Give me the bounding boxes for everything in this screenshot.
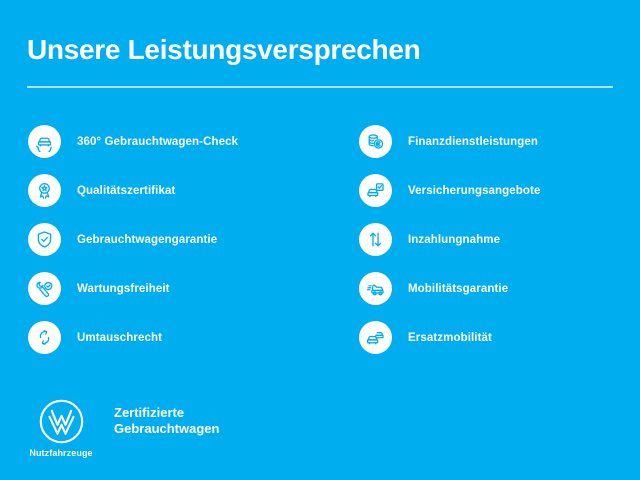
footer: Nutzfahrzeuge Zertifizierte Gebrauchtwag… (28, 398, 219, 458)
feature-label: Ersatzmobilität (408, 332, 492, 344)
features-column-left: 360° Gebrauchtwagen-Check Qualitätszerti… (28, 125, 328, 370)
brand-block: Nutzfahrzeuge (28, 398, 94, 458)
car-checklist-icon (359, 174, 392, 207)
feature-label: 360° Gebrauchtwagen-Check (77, 136, 238, 148)
promo-page: Unsere Leistungsversprechen 360° Gebrauc… (0, 0, 640, 480)
two-cars-icon (359, 321, 392, 354)
feature-label: Versicherungsangebote (408, 185, 540, 197)
feature-label: Finanzdienstleistungen (408, 136, 538, 148)
feature-item[interactable]: Inzahlungnahme (359, 223, 629, 256)
footer-tagline-line1: Zertifizierte (114, 405, 219, 421)
feature-item[interactable]: Mobilitätsgarantie (359, 272, 629, 305)
feature-label: Qualitätszertifikat (77, 185, 175, 197)
up-down-arrows-icon (359, 223, 392, 256)
feature-label: Wartungsfreiheit (77, 283, 170, 295)
brand-subtitle: Nutzfahrzeuge (29, 448, 92, 458)
feature-item[interactable]: Wartungsfreiheit (28, 272, 328, 305)
feature-label: Gebrauchtwagengarantie (77, 234, 217, 246)
feature-item[interactable]: 360° Gebrauchtwagen-Check (28, 125, 328, 158)
award-rosette-icon (28, 174, 61, 207)
coins-euro-icon (359, 125, 392, 158)
features-column-right: Finanzdienstleistungen Versicherungsange… (359, 125, 629, 370)
feature-item[interactable]: Finanzdienstleistungen (359, 125, 629, 158)
feature-label: Inzahlungnahme (408, 234, 500, 246)
feature-item[interactable]: Umtauschrecht (28, 321, 328, 354)
feature-label: Mobilitätsgarantie (408, 283, 508, 295)
header-divider (27, 86, 613, 88)
footer-tagline-line2: Gebrauchtwagen (114, 421, 219, 437)
moving-car-icon (359, 272, 392, 305)
shield-check-icon (28, 223, 61, 256)
footer-tagline: Zertifizierte Gebrauchtwagen (114, 405, 219, 437)
exchange-arrows-icon (28, 321, 61, 354)
feature-label: Umtauschrecht (77, 332, 162, 344)
feature-item[interactable]: Qualitätszertifikat (28, 174, 328, 207)
feature-item[interactable]: Ersatzmobilität (359, 321, 629, 354)
car-360-check-icon (28, 125, 61, 158)
feature-item[interactable]: Gebrauchtwagengarantie (28, 223, 328, 256)
page-title: Unsere Leistungsversprechen (27, 33, 420, 67)
vw-roundel-logo (38, 398, 85, 445)
wrench-check-icon (28, 272, 61, 305)
feature-item[interactable]: Versicherungsangebote (359, 174, 629, 207)
